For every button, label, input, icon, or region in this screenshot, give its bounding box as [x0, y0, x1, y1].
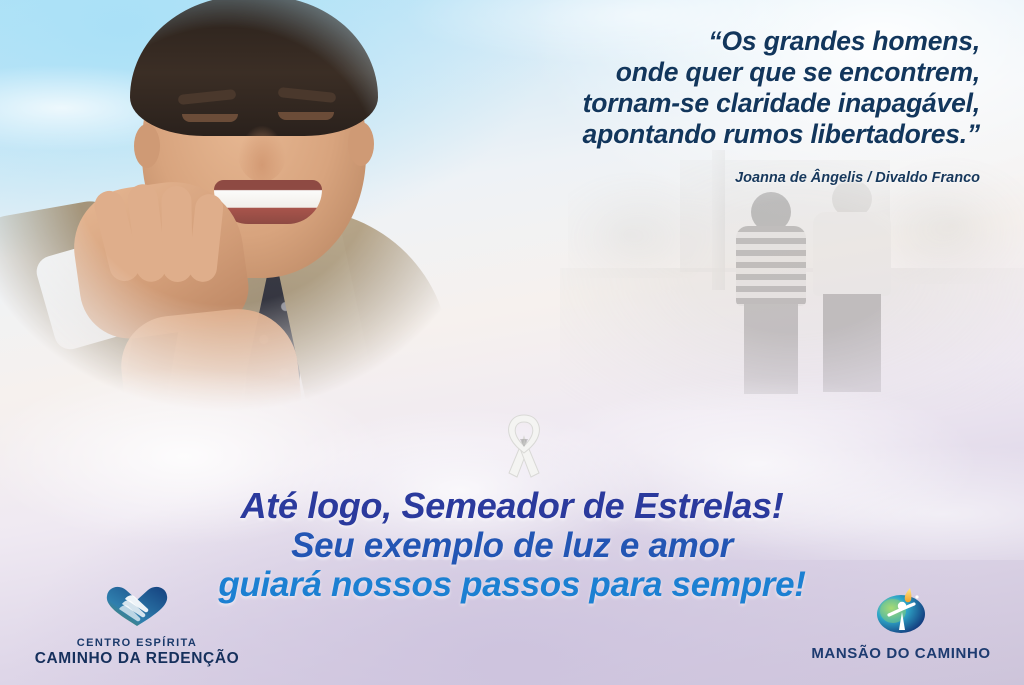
- logo-centro-espirita-caminho-da-redencao: CENTRO ESPÍRITA CAMINHO DA REDENÇÃO: [12, 582, 262, 667]
- hands-heart-icon: [12, 582, 262, 633]
- portrait-nose: [238, 126, 286, 182]
- portrait-hand-holding-microphone: [116, 303, 303, 439]
- background-figure-striped-shirt: [735, 192, 807, 392]
- globe-figure-flame-icon: [786, 584, 1016, 641]
- quote-text: “Os grandes homens, onde quer que se enc…: [380, 26, 980, 150]
- mourning-ribbon-icon: [487, 411, 561, 485]
- portrait-eye-left: [182, 114, 238, 122]
- headline-line-1: Até logo, Semeador de Estrelas!: [0, 486, 1024, 526]
- portrait-ear-right: [348, 122, 374, 166]
- headline-line-2: Seu exemplo de luz e amor: [0, 526, 1024, 565]
- memorial-poster: “Os grandes homens, onde quer que se enc…: [0, 0, 1024, 685]
- logo-left-line-1: CENTRO ESPÍRITA: [12, 637, 262, 650]
- portrait-hair: [130, 0, 378, 136]
- logo-right-line-1: MANSÃO DO CAMINHO: [786, 645, 1016, 663]
- quote-line-3: tornam-se claridade inapagável,: [380, 88, 980, 119]
- quote-attribution: Joanna de Ângelis / Divaldo Franco: [380, 170, 980, 186]
- portrait-ear-left: [134, 124, 160, 168]
- logo-left-line-2: CAMINHO DA REDENÇÃO: [12, 650, 262, 667]
- logo-mansao-do-caminho: MANSÃO DO CAMINHO: [786, 584, 1016, 663]
- background-photo-two-people-walking: [560, 150, 1024, 410]
- quote-line-4: apontando rumos libertadores.”: [380, 119, 980, 150]
- quote-line-2: onde quer que se encontrem,: [380, 57, 980, 88]
- portrait-eye-right: [278, 112, 334, 120]
- quote-line-1: “Os grandes homens,: [380, 26, 980, 57]
- background-figure-white-shirt: [812, 180, 892, 392]
